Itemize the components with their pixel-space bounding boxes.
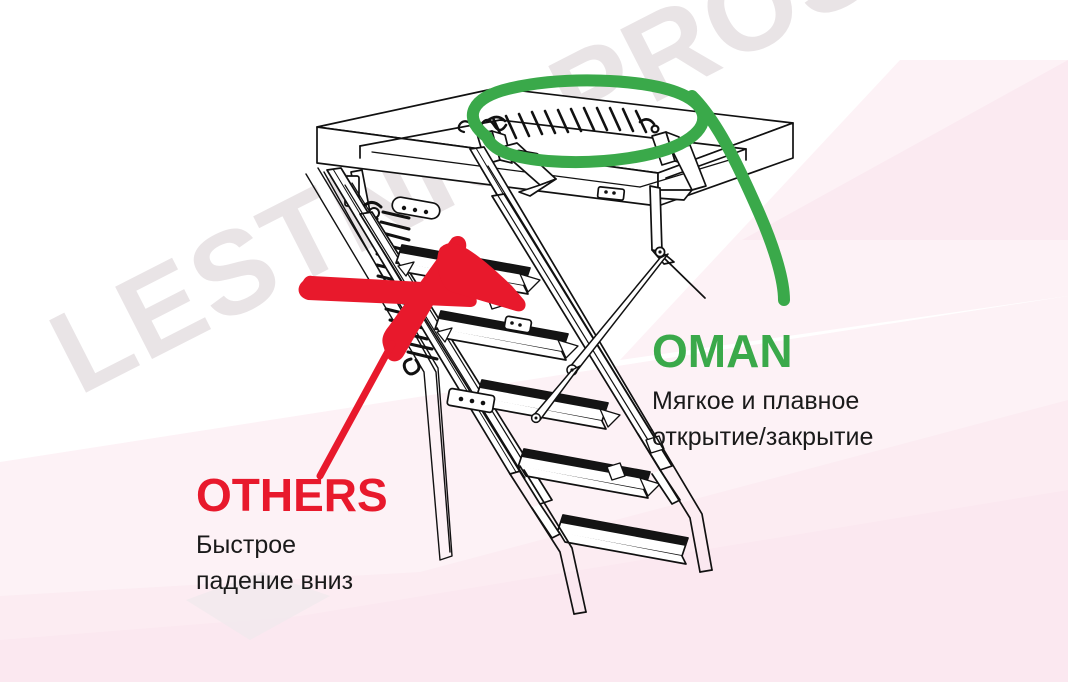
ladder-illustration	[0, 0, 1068, 682]
oman-description-line1: Мягкое и плавное	[652, 384, 873, 420]
oman-brand-title: OMAN	[652, 328, 873, 374]
red-arrow-tail	[320, 344, 392, 476]
infographic-canvas: LESTNIC-PROSTO.RU	[0, 0, 1068, 682]
ladder-step	[557, 515, 688, 564]
others-description-line2: падение вниз	[196, 564, 388, 600]
others-brand-title: OTHERS	[196, 472, 388, 518]
oman-description-line2: открытие/закрытие	[652, 420, 873, 456]
pivot-arm-right	[650, 186, 705, 298]
callout-others: OTHERS Быстрое падение вниз	[196, 472, 388, 599]
others-description-line1: Быстрое	[196, 528, 388, 564]
callout-oman: OMAN Мягкое и плавное открытие/закрытие	[652, 328, 873, 455]
